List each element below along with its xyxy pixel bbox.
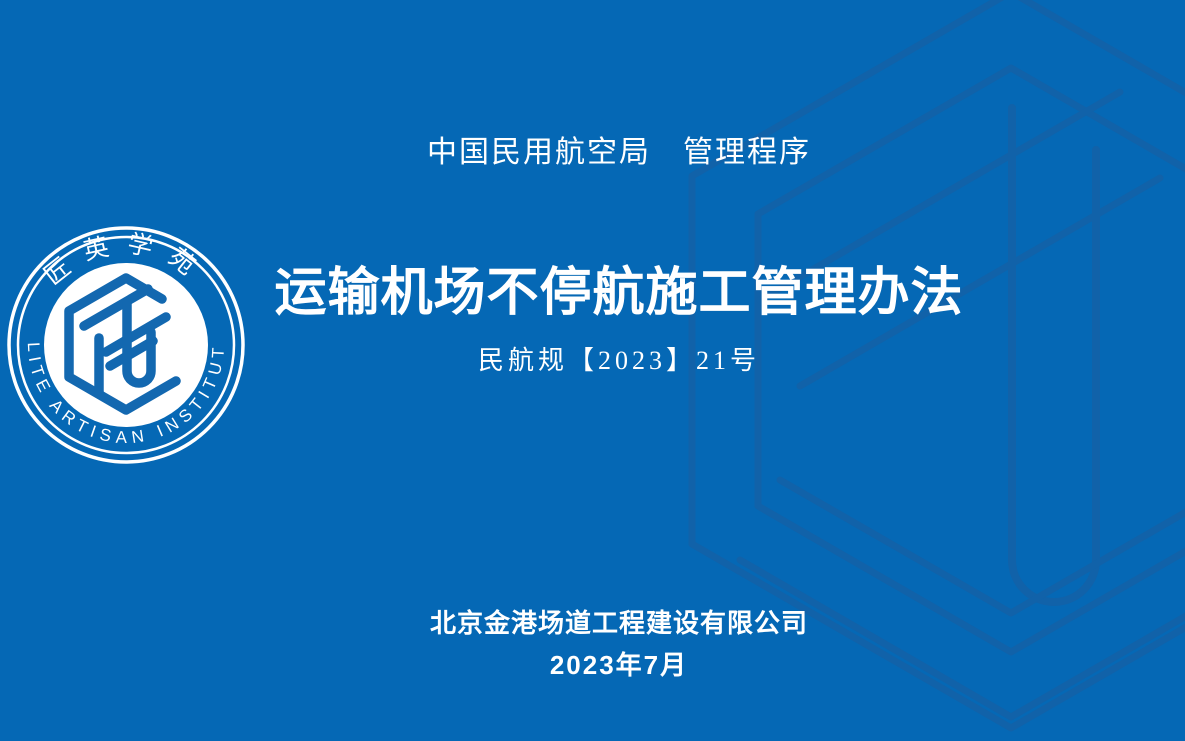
document-number: 民航规【2023】21号 bbox=[246, 344, 992, 378]
presentation-title-slide: 匠英学苑 ELITE ARTISAN INSTITUTE 中国民用航空局 管理程… bbox=[0, 0, 1185, 741]
document-issuer-header: 中国民用航空局 管理程序 bbox=[246, 134, 992, 172]
footer-organization: 北京金港场道工程建设有限公司 bbox=[246, 602, 992, 644]
footer-block: 北京金港场道工程建设有限公司 2023年7月 bbox=[246, 602, 992, 686]
page-title: 运输机场不停航施工管理办法 bbox=[246, 262, 992, 324]
footer-date: 2023年7月 bbox=[246, 644, 992, 686]
elite-artisan-institute-logo: 匠英学苑 ELITE ARTISAN INSTITUTE bbox=[6, 219, 246, 471]
